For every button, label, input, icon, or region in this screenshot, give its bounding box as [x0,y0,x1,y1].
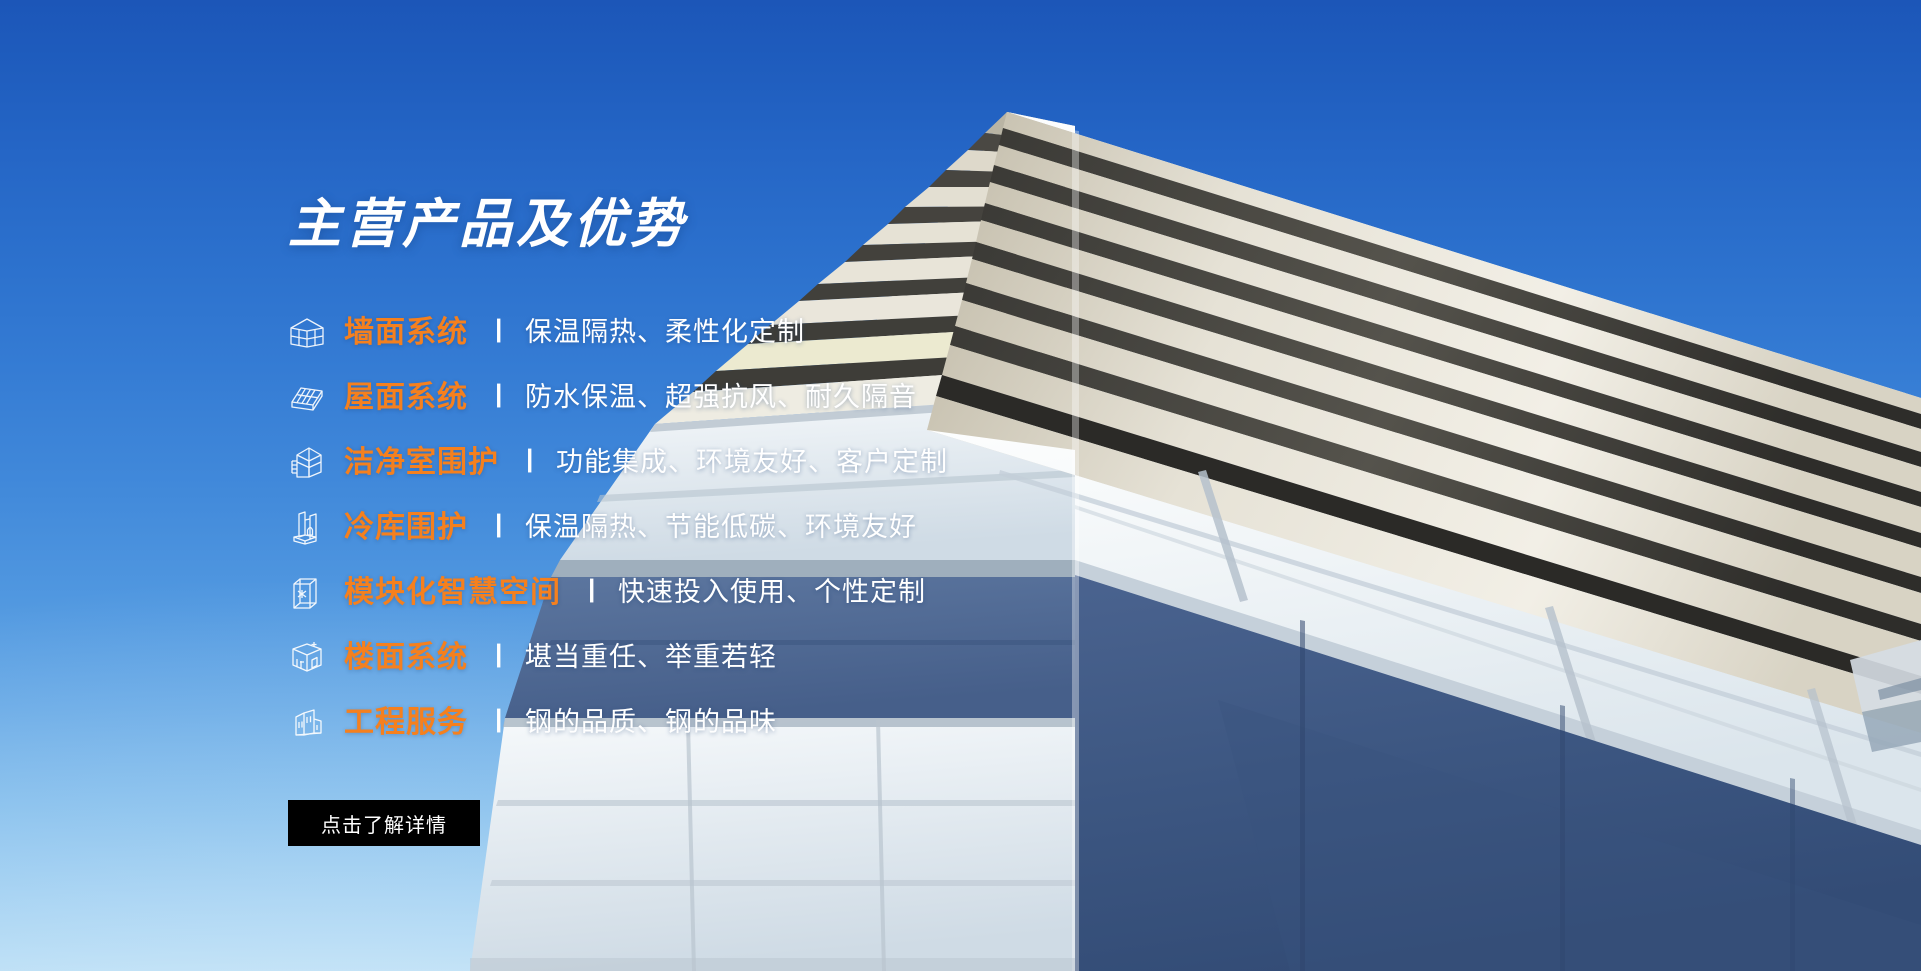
list-item[interactable]: 墙面系统 丨 保温隔热、柔性化定制 [288,300,1268,365]
list-item-separator: 丨 [464,385,530,410]
page-title: 主营产品及优势 [288,198,687,251]
list-item[interactable]: 工程服务 丨 钢的品质、钢的品味 [288,690,1268,755]
list-item[interactable]: 屋面系统 丨 防水保温、超强抗风、耐久隔音 [288,365,1268,430]
list-item-separator: 丨 [464,320,530,345]
list-item-desc: 防水保温、超强抗风、耐久隔音 [525,384,917,411]
list-item-title: 洁净室围护 [344,448,499,478]
list-item-desc: 保温隔热、节能低碳、环境友好 [525,514,917,541]
list-item-title: 墙面系统 [344,318,468,348]
list-item[interactable]: 洁净室围护 丨 功能集成、环境友好、客户定制 [288,430,1268,495]
list-item[interactable]: 模块化智慧空间 丨 快速投入使用、个性定制 [288,560,1268,625]
list-item-desc: 保温隔热、柔性化定制 [525,319,805,346]
list-item-desc: 钢的品质、钢的品味 [525,709,777,736]
roof-system-icon [288,381,344,415]
list-item-desc: 堪当重任、举重若轻 [525,644,777,671]
learn-more-button[interactable]: 点击了解详情 [288,800,480,846]
list-item[interactable]: 冷库围护 丨 保温隔热、节能低碳、环境友好 [288,495,1268,560]
list-item[interactable]: 楼面系统 丨 堪当重任、举重若轻 [288,625,1268,690]
list-item-title: 屋面系统 [344,383,468,413]
cold-storage-icon [288,510,344,546]
list-item-separator: 丨 [464,645,530,670]
cleanroom-icon [288,445,344,481]
product-advantage-banner: 主营产品及优势 墙面系统 丨 保温隔热、柔性化定制 [0,0,1921,971]
list-item-title: 工程服务 [344,708,468,738]
wall-system-icon [288,316,344,350]
list-item-separator: 丨 [464,710,530,735]
floor-system-icon [288,640,344,676]
list-item-separator: 丨 [495,450,561,475]
list-item-desc: 快速投入使用、个性定制 [618,579,926,606]
list-item-title: 冷库围护 [344,513,468,543]
banner-content: 主营产品及优势 墙面系统 丨 保温隔热、柔性化定制 [288,0,1268,971]
engineering-service-icon [288,707,344,739]
list-item-separator: 丨 [557,580,623,605]
product-list: 墙面系统 丨 保温隔热、柔性化定制 屋面系统 [288,300,1268,755]
modular-space-icon [288,575,344,611]
list-item-desc: 功能集成、环境友好、客户定制 [556,449,948,476]
list-item-title: 模块化智慧空间 [344,578,561,608]
list-item-title: 楼面系统 [344,643,468,673]
list-item-separator: 丨 [464,515,530,540]
